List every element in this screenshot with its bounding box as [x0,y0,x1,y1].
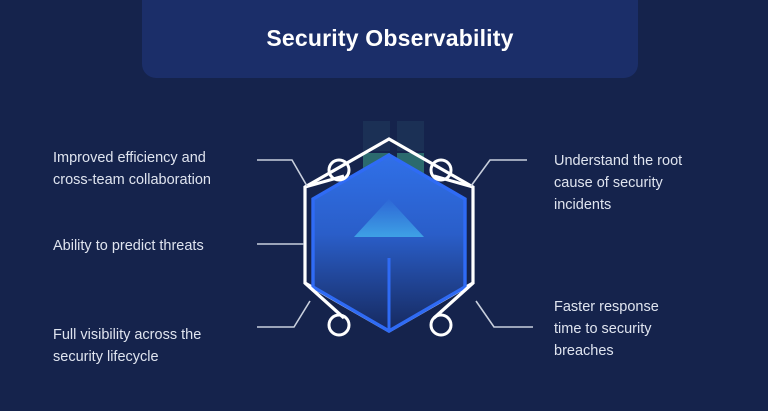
slide-canvas: Security Observability [0,0,768,411]
node-circle-bottom-left [329,315,349,335]
leader-line-faster-response [476,301,533,327]
leader-line-full-visibility [257,301,310,327]
callout-root-cause: Understand the root cause of security in… [554,150,724,216]
node-circle-bottom-right [431,315,451,335]
leader-line-improved-efficiency [257,160,307,186]
callout-improved-efficiency: Improved efficiency and cross-team colla… [53,147,263,191]
callout-full-visibility: Full visibility across the security life… [53,324,263,368]
callout-predict-threats: Ability to predict threats [53,235,263,257]
leader-line-root-cause [471,160,527,186]
callout-faster-response: Faster response time to security breache… [554,296,724,362]
